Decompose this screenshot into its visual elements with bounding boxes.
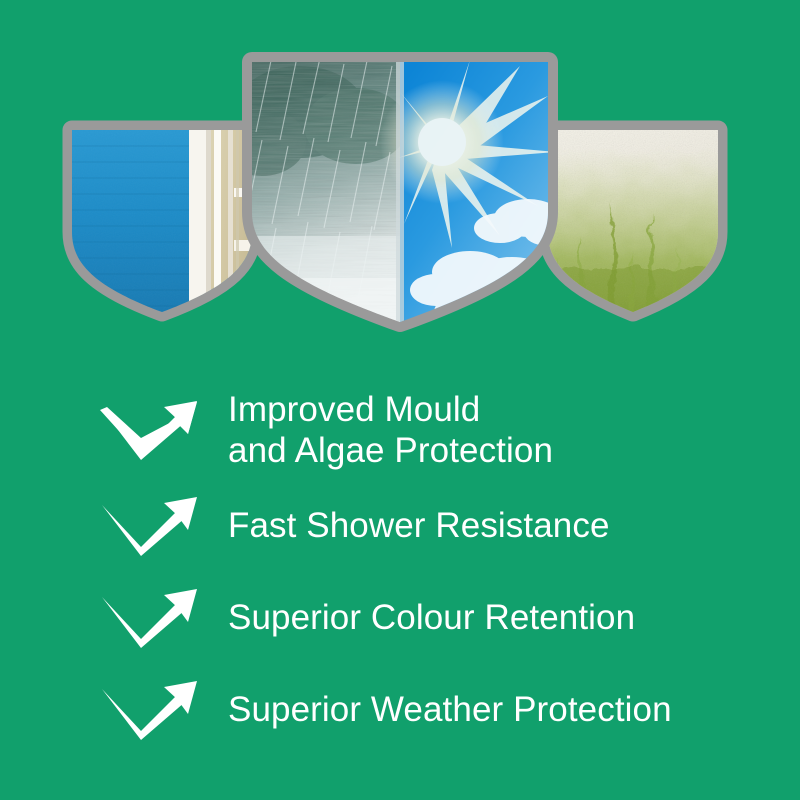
benefit-item: Fast Shower Resistance [0,480,800,572]
benefit-item: Superior Weather Protection [0,664,800,756]
shield-rain-and-sun-icon [218,52,578,336]
check-arrow-icon [98,490,210,562]
product-benefits-panel: Improved Mould and Algae Protection Fast… [0,0,800,800]
shields-illustration [0,0,800,360]
benefit-label: Fast Shower Resistance [228,505,610,546]
shield-algae-growth-icon [535,120,735,330]
benefit-label: Improved Mould and Algae Protection [228,389,553,472]
check-arrow-icon [98,582,210,654]
benefit-item: Improved Mould and Algae Protection [0,380,800,480]
benefit-label: Superior Colour Retention [228,597,635,638]
check-arrow-icon [98,394,210,466]
benefit-label: Superior Weather Protection [228,689,672,730]
benefit-list: Improved Mould and Algae Protection Fast… [0,380,800,756]
benefit-item: Superior Colour Retention [0,572,800,664]
check-arrow-icon [98,674,210,746]
protection-shields [0,0,800,360]
